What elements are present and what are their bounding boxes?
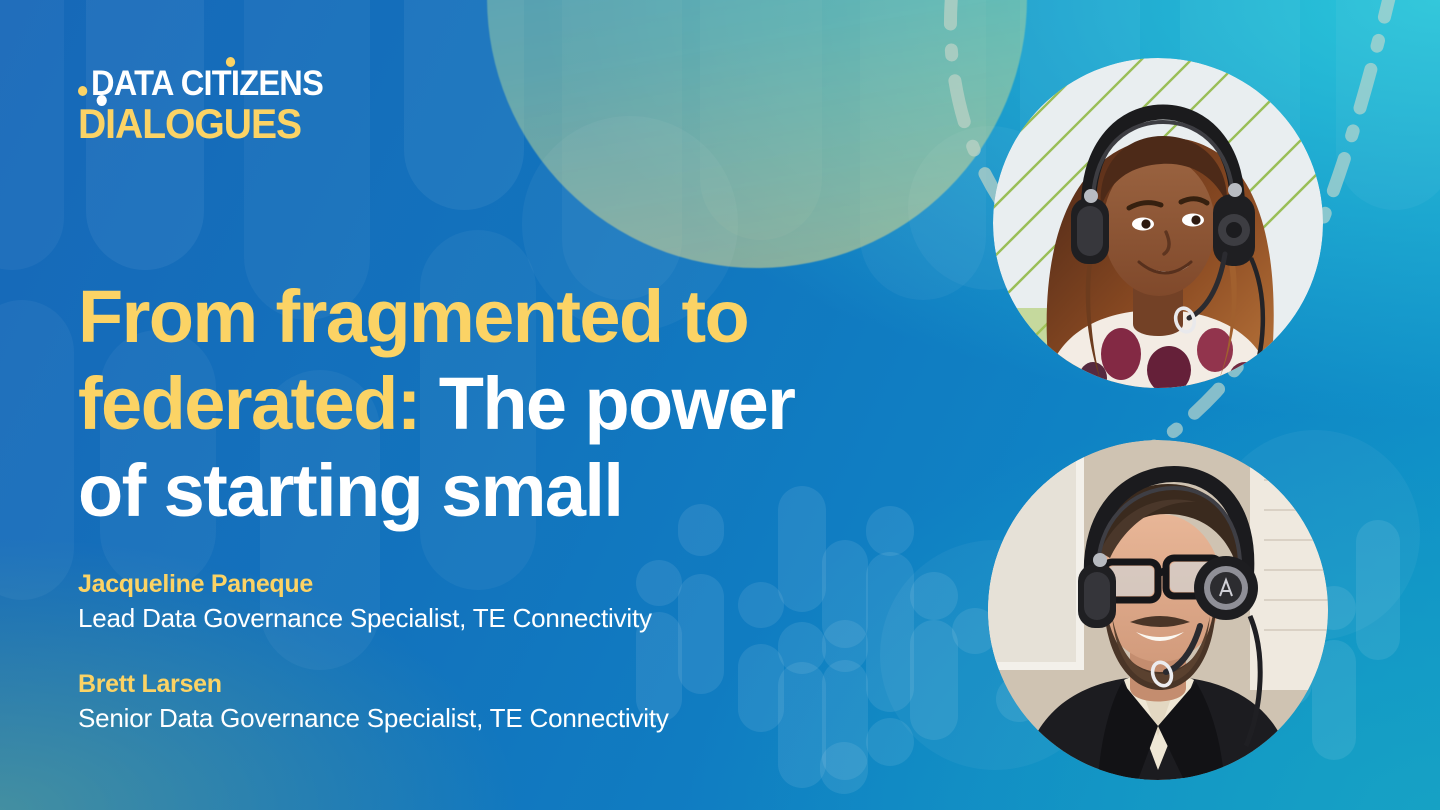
logo-i-dot-icon <box>97 95 107 106</box>
speaker-name: Jacqueline Paneque <box>78 568 878 600</box>
deco-pill <box>404 0 524 210</box>
logo-line-1-text: DATA CITIZENS <box>91 64 323 103</box>
deco-pill <box>562 0 682 300</box>
deco-pill <box>860 0 986 300</box>
logo-line-2: DIALOGUES <box>78 103 323 145</box>
speaker-entry: Jacqueline Paneque Lead Data Governance … <box>78 568 878 636</box>
speaker-avatar <box>993 58 1323 388</box>
brand-logo: DATA CITIZENS DIALOGUES <box>78 66 342 145</box>
deco-pill <box>0 0 64 270</box>
deco-pill <box>0 300 74 600</box>
deco-eq-bar <box>910 620 958 740</box>
deco-pill <box>700 0 822 240</box>
deco-eq-bar <box>866 506 914 556</box>
speaker-avatar <box>988 440 1328 780</box>
speaker-name: Brett Larsen <box>78 668 878 700</box>
speaker-photo-brett <box>988 440 1328 780</box>
speaker-role: Senior Data Governance Specialist, TE Co… <box>78 700 878 736</box>
logo-line-2-text: DIALOGUES <box>78 100 301 147</box>
deco-eq-bar <box>820 742 868 794</box>
speaker-entry: Brett Larsen Senior Data Governance Spec… <box>78 668 878 736</box>
logo-i-dot-icon <box>226 57 235 67</box>
deco-eq-bar <box>910 572 958 620</box>
podcast-title-card: DATA CITIZENS DIALOGUES From fragmented … <box>0 0 1440 810</box>
logo-dot-icon <box>78 86 87 96</box>
deco-pill <box>1336 0 1440 210</box>
deco-eq-bar <box>1356 520 1400 660</box>
speaker-photo-jacqueline <box>993 58 1323 388</box>
logo-line-1: DATA CITIZENS <box>78 66 323 101</box>
episode-title: From fragmented to federated: The power … <box>78 273 868 534</box>
speaker-list: Jacqueline Paneque Lead Data Governance … <box>78 568 878 736</box>
deco-gradient-circle <box>487 0 1027 268</box>
speaker-role: Lead Data Governance Specialist, TE Conn… <box>78 600 878 636</box>
